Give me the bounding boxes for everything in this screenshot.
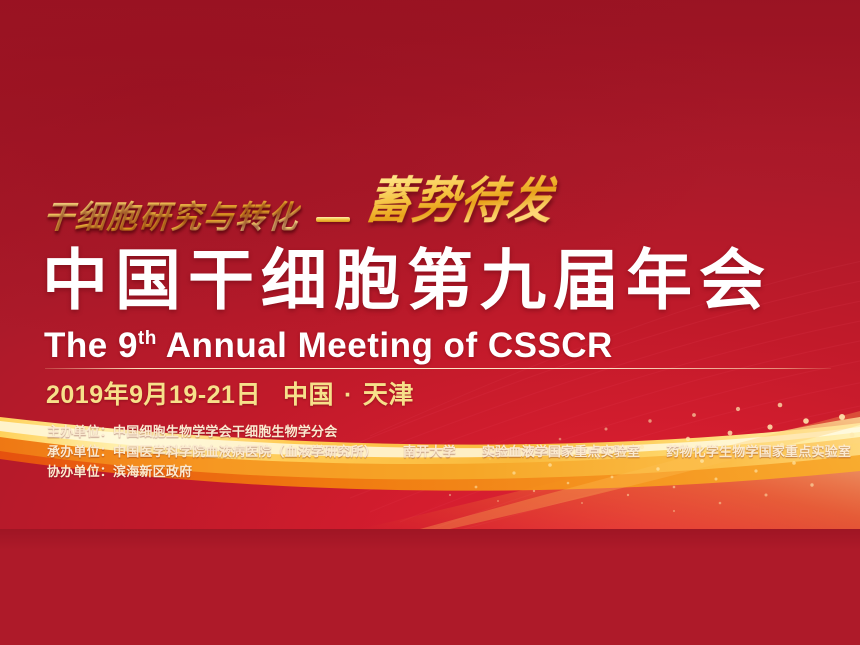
organizer-extra-nankai: 南开大学 — [403, 444, 456, 459]
organizer-row-host: 主办单位：中国细胞生物学学会干细胞生物学分会 — [47, 422, 851, 442]
subtitle-before: The 9 — [44, 326, 138, 365]
tagline-part-1: 干细胞研究与转化 — [42, 191, 303, 238]
event-date: 2019年9月19-21日 — [46, 381, 261, 409]
organizer-value-undertaker: 中国医学科学院血液病医院（血液学研究所） — [113, 444, 377, 459]
subtitle-ordinal: th — [138, 328, 157, 349]
organizer-extra-chembio-lab: 药物化学生物学国家重点实验室 — [666, 444, 851, 459]
conference-poster: 干细胞研究与转化 蓄势待发 中国干细胞第九届年会 The 9th Annual … — [0, 0, 860, 645]
page-subtitle-english: The 9th Annual Meeting of CSSCR — [44, 318, 613, 367]
organizer-label-coorganizer: 协办单位： — [47, 464, 113, 479]
event-country: 中国 — [283, 381, 334, 409]
organizer-block: 主办单位：中国细胞生物学学会干细胞生物学分会 承办单位：中国医学科学院血液病医院… — [47, 422, 851, 482]
poster-banner: 干细胞研究与转化 蓄势待发 中国干细胞第九届年会 The 9th Annual … — [0, 0, 860, 529]
organizer-value-host: 中国细胞生物学学会干细胞生物学分会 — [113, 424, 337, 439]
date-location-line: 2019年9月19-21日中国·天津 — [46, 379, 414, 411]
organizer-label-undertaker: 承办单位： — [47, 444, 113, 459]
poster-bottom-band — [0, 529, 860, 645]
tagline-dash-icon — [316, 217, 350, 222]
tagline-part-2: 蓄势待发 — [361, 161, 560, 232]
subtitle-after: Annual Meeting of CSSCR — [157, 326, 613, 365]
organizer-label-host: 主办单位： — [47, 424, 113, 439]
page-title: 中国干细胞第九届年会 — [42, 243, 772, 317]
poster-tagline: 干细胞研究与转化 蓄势待发 — [44, 178, 554, 236]
organizer-value-coorganizer: 滨海新区政府 — [113, 464, 192, 479]
bottom-band-sheen — [0, 529, 860, 645]
poster-content: 干细胞研究与转化 蓄势待发 中国干细胞第九届年会 The 9th Annual … — [0, 0, 860, 529]
event-city: 天津 — [363, 381, 414, 409]
title-divider — [45, 368, 831, 369]
location-separator: · — [334, 379, 363, 411]
organizer-extra-hematology-lab: 实验血液学国家重点实验室 — [482, 444, 640, 459]
organizer-row-coorganizer: 协办单位：滨海新区政府 — [47, 462, 851, 482]
organizer-row-undertaker: 承办单位：中国医学科学院血液病医院（血液学研究所）南开大学实验血液学国家重点实验… — [47, 442, 851, 462]
